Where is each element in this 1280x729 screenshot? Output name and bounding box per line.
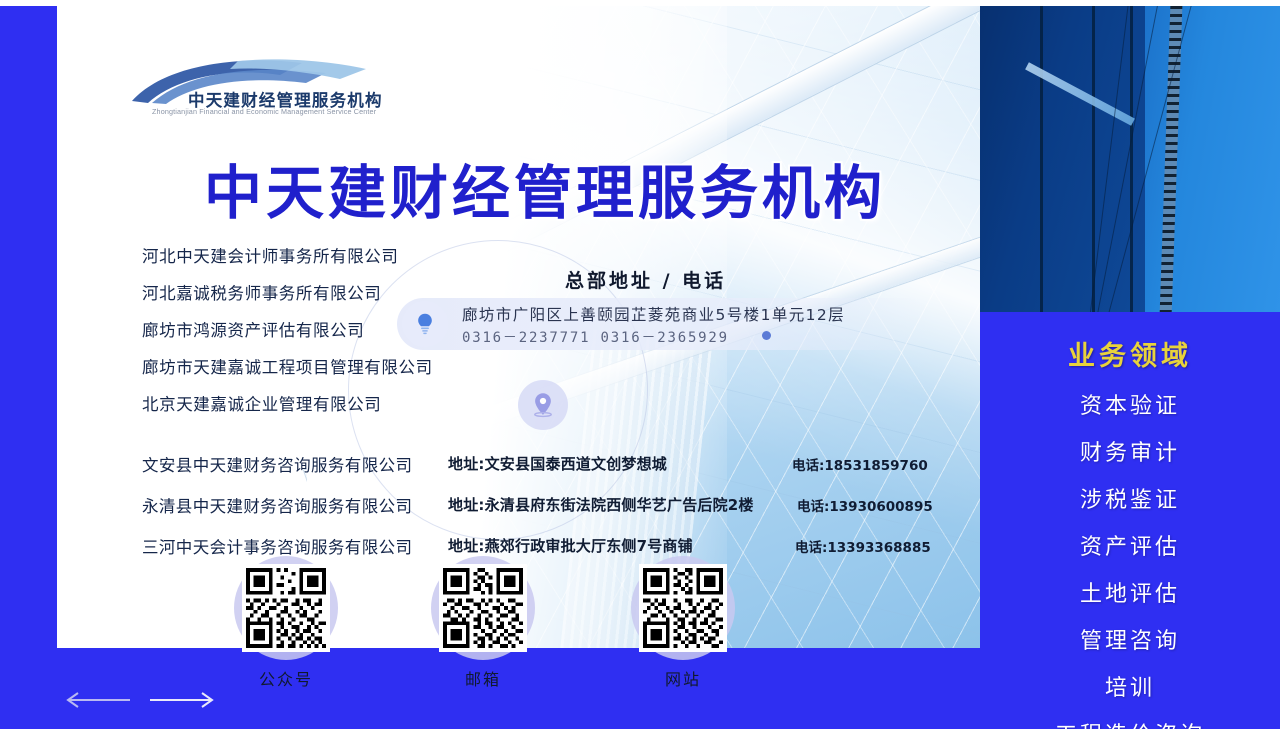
sidebar-item-cost-consulting[interactable]: 工程造价咨询: [980, 717, 1280, 729]
sidebar-item-capital-verification[interactable]: 资本验证: [980, 388, 1280, 420]
qr-code-label: 公众号: [220, 666, 352, 690]
lightbulb-glyph: [412, 311, 438, 337]
facade-mullion: [1130, 0, 1133, 312]
qr-code-item-email[interactable]: 邮箱: [417, 556, 549, 652]
page-title: 中天建财经管理服务机构: [204, 146, 904, 230]
qr-code-icon[interactable]: [242, 564, 330, 652]
qr-code-label: 网站: [617, 666, 749, 690]
qr-code-group: 公众号: [205, 556, 805, 701]
table-row: 永清县中天建财务咨询服务有限公司 地址:永清县府东街法院西侧华艺广告后院2楼 电…: [142, 493, 932, 534]
branch-name: 永清县中天建财务咨询服务有限公司: [142, 493, 412, 517]
list-item: 河北中天建会计师事务所有限公司: [142, 238, 472, 275]
branch-phone: 电话:13930600895: [797, 495, 933, 515]
business-scope-sidebar: 业务领域 资本验证 财务审计 涉税鉴证 资产评估 土地评估 管理咨询 培训 工程…: [980, 312, 1280, 729]
skyscraper-photo: [980, 0, 1280, 312]
branch-name: 三河中天会计事务咨询服务有限公司: [142, 534, 412, 558]
qr-code-icon[interactable]: [639, 564, 727, 652]
table-row: 文安县中天建财务咨询服务有限公司 地址:文安县国泰西道文创梦想城 电话:1853…: [142, 452, 932, 493]
map-pin-icon: [518, 380, 568, 430]
qr-code-item-wechat[interactable]: 公众号: [220, 556, 352, 652]
list-item: 北京天建嘉诚企业管理有限公司: [142, 386, 472, 423]
slide-canvas: 中天建财经管理服务机构 Zhongtianjian Financial and …: [0, 0, 1280, 729]
qr-code-label: 邮箱: [417, 666, 549, 690]
sidebar-item-financial-audit[interactable]: 财务审计: [980, 435, 1280, 467]
slide-navigation: [60, 688, 220, 712]
sidebar-title: 业务领域: [980, 334, 1280, 373]
headquarters-address: 廊坊市广阳区上善颐园芷菱苑商业5号楼1单元12层: [462, 303, 845, 325]
sidebar-item-management-consulting[interactable]: 管理咨询: [980, 623, 1280, 655]
qr-code-item-website[interactable]: 网站: [617, 556, 749, 652]
branch-phone: 电话:13393368885: [795, 536, 931, 556]
arrow-right-icon[interactable]: [150, 693, 212, 707]
branch-address: 地址:永清县府东街法院西侧华艺广告后院2楼: [448, 494, 754, 515]
branch-phone: 电话:18531859760: [792, 454, 928, 474]
facade-mullion: [1092, 0, 1095, 312]
company-logo: 中天建财经管理服务机构 Zhongtianjian Financial and …: [130, 57, 378, 129]
qr-code-icon[interactable]: [439, 564, 527, 652]
frame-left-band: [0, 0, 57, 648]
sidebar-item-training[interactable]: 培训: [980, 670, 1280, 702]
facade-mullion: [1040, 0, 1043, 312]
headquarters-phones: 0316－2237771 0316－2365929: [462, 327, 729, 347]
logo-subtext: Zhongtianjian Financial and Economic Man…: [152, 107, 376, 116]
list-item: 廊坊市天建嘉诚工程项目管理有限公司: [142, 349, 472, 386]
lightbulb-icon: [402, 301, 448, 347]
decorative-dot: [762, 331, 771, 340]
branch-address: 地址:燕郊行政审批大厅东侧7号商铺: [448, 535, 693, 556]
map-pin-glyph: [528, 390, 558, 420]
arrow-left-icon[interactable]: [68, 693, 130, 707]
sidebar-item-asset-valuation[interactable]: 资产评估: [980, 529, 1280, 561]
branch-address: 地址:文安县国泰西道文创梦想城: [448, 453, 667, 474]
headquarters-title: 总部地址 / 电话: [565, 266, 726, 293]
branch-name: 文安县中天建财务咨询服务有限公司: [142, 452, 412, 476]
sidebar-item-tax-attestation[interactable]: 涉税鉴证: [980, 482, 1280, 514]
sidebar-item-land-valuation[interactable]: 土地评估: [980, 576, 1280, 608]
frame-top-edge: [0, 0, 1280, 6]
